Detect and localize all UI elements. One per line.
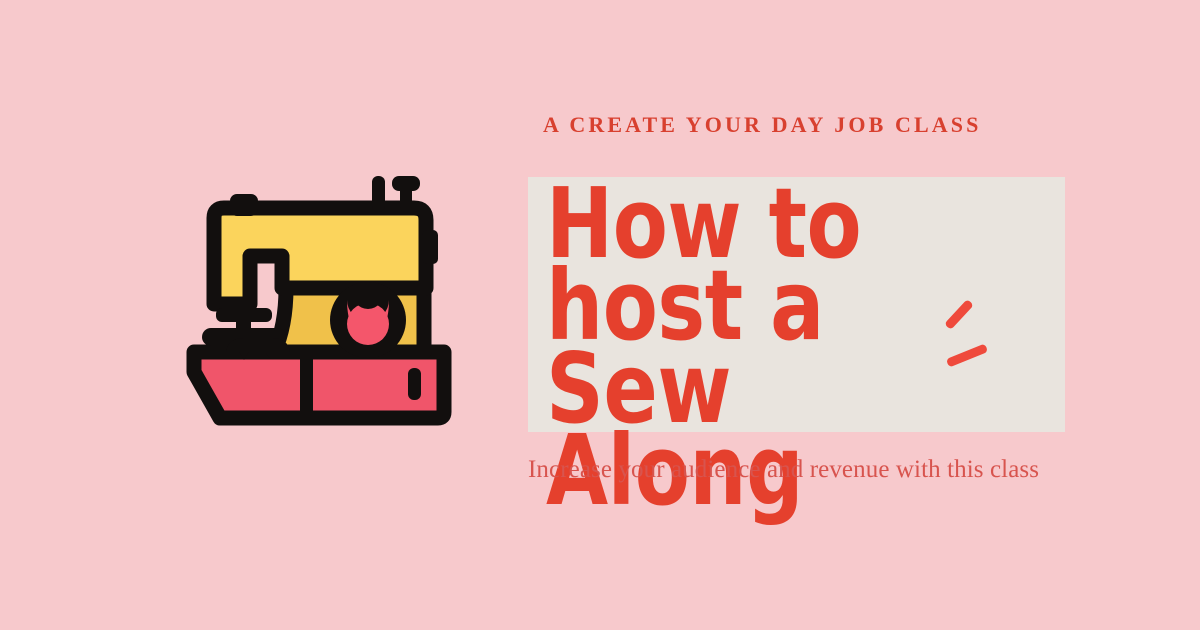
base-indicator <box>408 368 421 400</box>
title-card: How to host a Sew Along <box>528 177 1065 432</box>
hand-wheel-hub <box>347 303 389 345</box>
presser-bar-upper <box>216 308 272 322</box>
presser-foot-hump <box>226 338 290 352</box>
machine-base <box>194 352 444 418</box>
sewing-machine-graphic <box>194 176 444 418</box>
poster-canvas: A CREATE YOUR DAY JOB CLASS How to host … <box>0 0 1200 630</box>
machine-upper-arm <box>214 208 426 304</box>
sewing-machine-illustration <box>186 176 452 426</box>
machine-arm-nub <box>422 230 438 264</box>
base-divider <box>300 352 313 418</box>
spool-pin-left <box>372 176 385 212</box>
eyebrow-kicker: A CREATE YOUR DAY JOB CLASS <box>543 112 981 138</box>
spool-cap-right <box>392 176 420 191</box>
subtitle-text: Increase your audience and revenue with … <box>528 455 1039 485</box>
thread-guide <box>230 194 258 216</box>
